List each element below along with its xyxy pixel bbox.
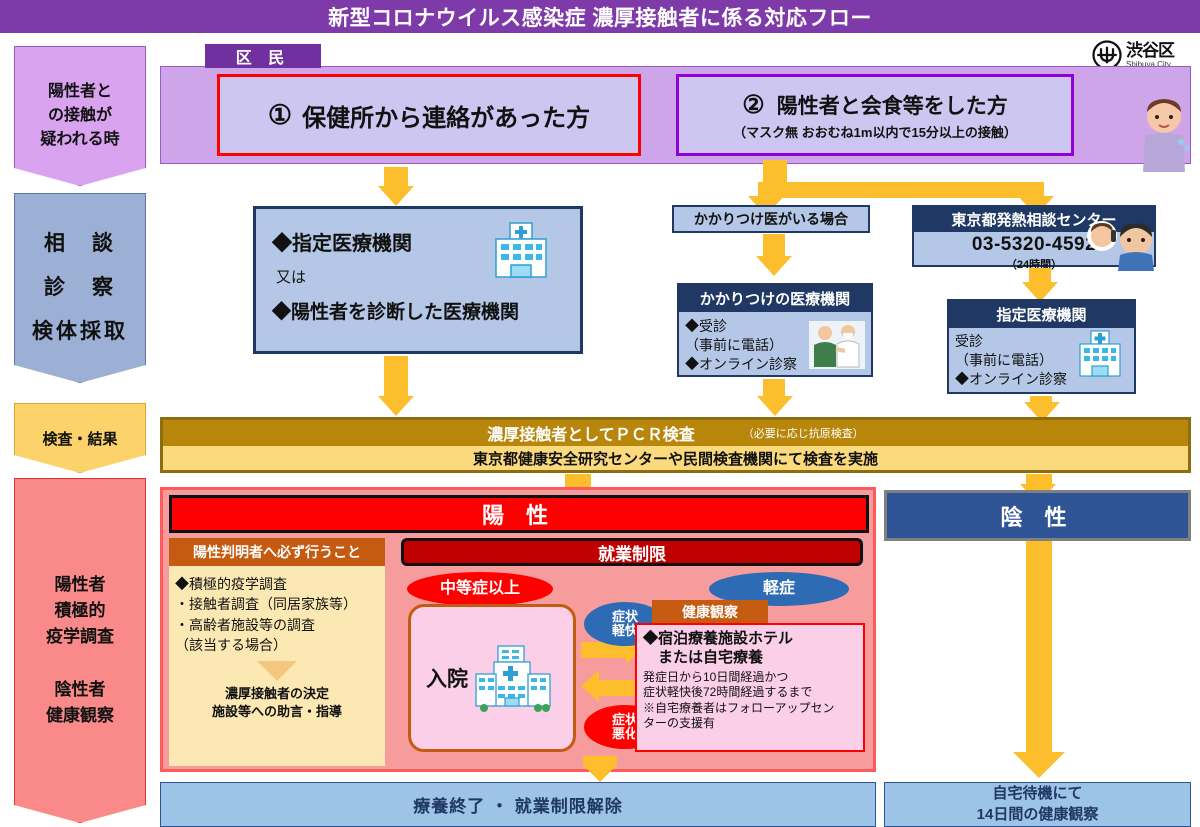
health-obs-detail-line: ターの支援有 [643,716,857,732]
home-observation-bar: 自宅待機にて 14日間の健康観察 [884,782,1191,827]
positive-actions-panel: 陽性判明者へ必ず行うこと ◆積極的疫学調査 ・接触者調査（同居家族等） ・高齢者… [169,538,385,766]
work-restriction-label: 就業制限 [598,540,666,565]
case-2-box[interactable]: ② 陽性者と会食等をした方 （マスク無 おおむね1m以内で15分以上の接触） [676,74,1074,156]
health-obs-main-line: または自宅療養 [643,649,857,668]
arrow-head-icon [757,396,793,416]
sidebar-step-line: 相 談 [44,222,116,266]
positive-header: 陽 性 [169,495,869,533]
pcr-test-section: 濃厚接触者としてＰＣＲ検査 （必要に応じ抗原検査） 東京都健康安全研究センターや… [160,417,1191,473]
sidebar-step-line: 陽性者 [55,572,106,598]
resident-tab: 区 民 [205,44,321,68]
family-doctor-clinic-box[interactable]: かかりつけの医療機関 ◆受診 （事前に電話） ◆オンライン診察 [677,283,873,377]
negative-header-label: 陰 性 [1000,500,1074,532]
phone-call-people-icon [1082,219,1156,271]
pcr-main-label: 濃厚接触者としてＰＣＲ検査 [487,421,695,445]
positive-action-footer-line: 施設等への助言・指導 [175,703,379,721]
sidebar-step-line: の接触が [48,104,112,128]
home-observation-line: 自宅待機にて [992,784,1082,804]
health-obs-detail-line: 症状軽快後72時間経過するまで [643,685,857,701]
case-1-number: ① [268,100,292,131]
coughing-person-icon [1135,96,1193,174]
arrow-designated-to-pcr [384,356,408,398]
fever-consultation-center-box[interactable]: 東京都発熱相談センター 03-5320-4592 （24時間） [912,205,1156,267]
designated-medical-institution-2-box[interactable]: 指定医療機関 受診 （事前に電話） ◆オンライン診察 [947,299,1136,394]
sidebar-step-line: 診 察 [44,266,116,310]
case-2-number: ② [742,90,764,120]
health-obs-detail-line: ※自宅療養者はフォローアップセン [643,701,857,717]
sidebar-step-line: 積極的 [55,598,106,624]
arrow-case2-split-bar [758,182,1044,198]
logo-jp-text: 渋谷区 [1126,42,1174,59]
pcr-test-header: 濃厚接触者としてＰＣＲ検査 （必要に応じ抗原検査） [163,420,1188,446]
family-doctor-condition-box[interactable]: かかりつけ医がいる場合 [672,205,870,233]
health-obs-main-line: ◆宿泊療養施設ホテル [643,630,857,649]
sidebar-step-line: 疫学調査 [46,624,114,650]
pcr-test-subtext: 東京都健康安全研究センターや民間検査機関にて検査を実施 [163,446,1188,470]
resident-tab-label: 区 民 [236,44,290,68]
arrow-head-icon [378,186,414,206]
arrow-down-icon [257,661,297,681]
designated-line-3: ◆陽性者を診断した医療機関 [272,297,564,324]
hospitalization-label: 入院 [426,663,468,693]
family-doctor-condition-label: かかりつけ医がいる場合 [694,209,848,229]
case-1-label: 保健所から連絡があった方 [302,98,590,133]
sidebar-step-consultation: 相 談 診 察 検体採取 [14,193,146,383]
case-1-box[interactable]: ① 保健所から連絡があった方 [217,74,641,156]
treatment-end-bar: 療養終了 ・ 就業制限解除 [160,782,876,827]
work-restriction-header: 就業制限 [401,538,863,566]
hospital-icon [492,221,550,287]
doctor-patient-icon [809,321,865,369]
positive-header-label: 陽 性 [482,498,556,530]
arrow-condition-to-clinic [763,234,785,258]
severity-moderate-label: 中等症以上 [440,580,520,598]
designated-medical-institution-box[interactable]: ◆指定医療機関 又は ◆陽性者を診断した医療機関 [253,206,583,354]
case-2-sublabel: （マスク無 おおむね1m以内で15分以上の接触） [733,122,1017,141]
arrow-head-icon [1013,752,1065,778]
sidebar-step-epidemiological: 陽性者 積極的 疫学調査 陰性者 健康観察 [14,478,146,823]
arrow-case2-stem [763,160,787,184]
positive-action-line: （該当する場合） [175,635,379,655]
hospital-icon [1077,329,1123,383]
arrow-head-icon [582,764,618,782]
sidebar-step-line: 検体採取 [32,310,128,354]
positive-actions-header: 陽性判明者へ必ず行うこと [169,538,385,566]
severity-pill-moderate: 中等症以上 [407,572,553,606]
health-obs-detail-line: 発症日から10日間経過かつ [643,670,857,686]
arrow-head-icon [756,256,792,276]
positive-action-line: ◆積極的疫学調査 [175,574,379,594]
sidebar-step-line: 疑われる時 [40,128,119,152]
health-observation-box[interactable]: ◆宿泊療養施設ホテル または自宅療養 発症日から10日間経過かつ 症状軽快後72… [635,623,865,752]
sidebar-step-line: 陽性者と [48,80,112,104]
sidebar-step-line: 検査・結果 [42,428,117,449]
severity-mild-label: 軽症 [763,580,795,598]
positive-action-line: ・高齢者施設等の調査 [175,615,379,635]
pcr-note-label: （必要に応じ抗原検査） [743,425,864,441]
status-improved-line: 症状 [612,609,638,624]
sidebar-step-test-result: 検査・結果 [14,403,146,473]
hospital-icon [472,640,558,716]
arrow-negative-to-home-stay [1026,541,1052,756]
sidebar-step-contact-suspected: 陽性者と の接触が 疑われる時 [14,46,146,186]
negative-result-box: 陰 性 [884,490,1191,541]
case-2-label: 陽性者と会食等をした方 [777,90,1008,120]
hospitalization-box[interactable]: 入院 [408,604,576,752]
home-observation-line: 14日間の健康観察 [977,805,1099,825]
family-doctor-clinic-header: かかりつけの医療機関 [679,285,871,312]
arrow-head-icon [581,670,599,702]
arrow-head-icon [378,396,414,416]
health-observation-label: 健康観察 [682,602,738,622]
treatment-end-label: 療養終了 ・ 就業制限解除 [413,792,622,817]
sidebar-step-line: 健康観察 [46,703,114,729]
positive-action-footer-line: 濃厚接触者の決定 [175,685,379,703]
positive-result-section: 陽 性 陽性判明者へ必ず行うこと ◆積極的疫学調査 ・接触者調査（同居家族等） … [160,487,876,772]
positive-action-line: ・接触者調査（同居家族等） [175,594,379,614]
page-title-text: 新型コロナウイルス感染症 濃厚接触者に係る対応フロー [328,2,872,32]
health-observation-header: 健康観察 [652,600,768,624]
sidebar-step-line: 陰性者 [55,677,106,703]
page-title: 新型コロナウイルス感染症 濃厚接触者に係る対応フロー [0,0,1200,33]
designated-2-header: 指定医療機関 [949,301,1134,328]
